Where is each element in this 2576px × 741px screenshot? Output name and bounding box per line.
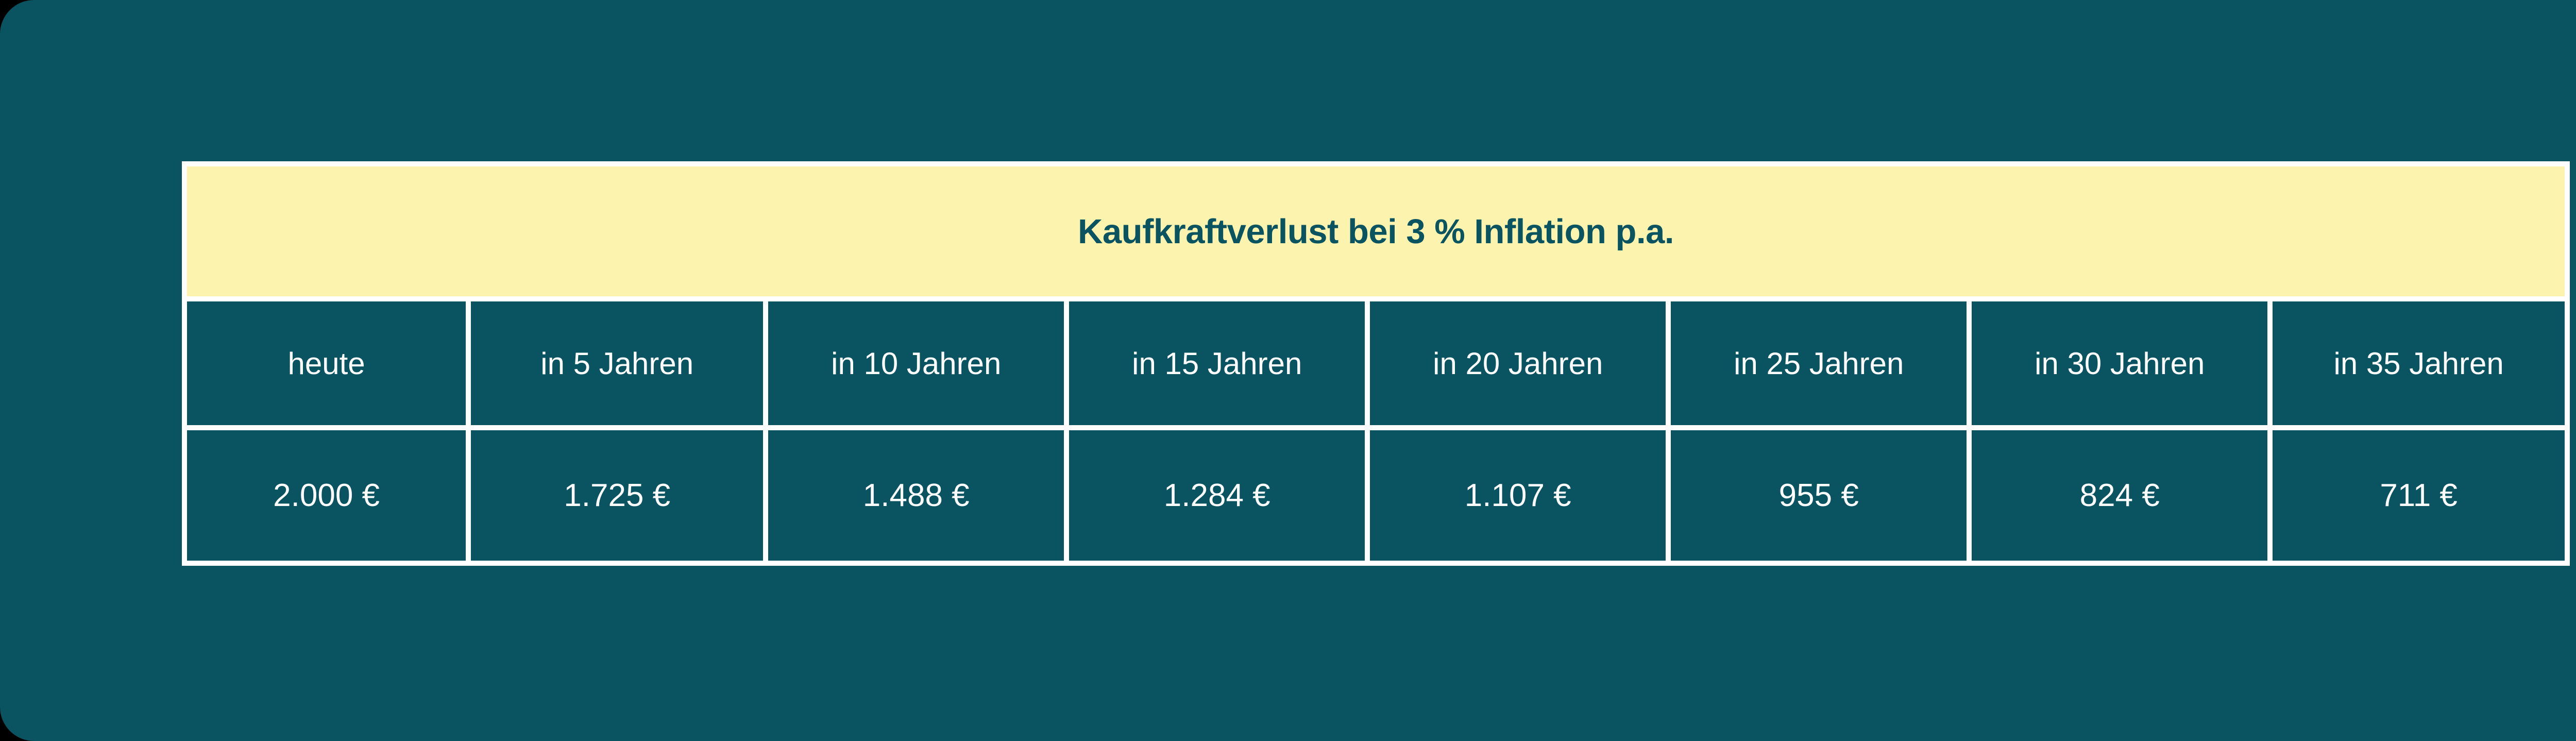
- column-header-in-30-jahren: in 30 Jahren: [1969, 301, 2270, 430]
- column-header-in-10-jahren: in 10 Jahren: [766, 301, 1066, 430]
- value-cell-in-30-jahren: 824 €: [1969, 430, 2270, 566]
- inflation-table: Kaufkraftverlust bei 3 % Inflation p.a. …: [182, 161, 2570, 566]
- value-cell-in-15-jahren: 1.284 €: [1066, 430, 1367, 566]
- value-cell-in-35-jahren: 711 €: [2270, 430, 2570, 566]
- value-cell-heute: 2.000 €: [182, 430, 468, 566]
- inflation-table-container: Kaufkraftverlust bei 3 % Inflation p.a. …: [182, 161, 2570, 566]
- table-header-row: heute in 5 Jahren in 10 Jahren in 15 Jah…: [182, 301, 2570, 430]
- table-row: 2.000 € 1.725 € 1.488 € 1.284 € 1.107 € …: [182, 430, 2570, 566]
- column-header-in-15-jahren: in 15 Jahren: [1066, 301, 1367, 430]
- value-cell-in-5-jahren: 1.725 €: [468, 430, 766, 566]
- background-panel: Kaufkraftverlust bei 3 % Inflation p.a. …: [0, 0, 2576, 741]
- column-header-heute: heute: [182, 301, 468, 430]
- table-title: Kaufkraftverlust bei 3 % Inflation p.a.: [182, 161, 2570, 301]
- column-header-in-35-jahren: in 35 Jahren: [2270, 301, 2570, 430]
- value-cell-in-10-jahren: 1.488 €: [766, 430, 1066, 566]
- column-header-in-5-jahren: in 5 Jahren: [468, 301, 766, 430]
- table-title-row: Kaufkraftverlust bei 3 % Inflation p.a.: [182, 161, 2570, 301]
- value-cell-in-25-jahren: 955 €: [1668, 430, 1969, 566]
- value-cell-in-20-jahren: 1.107 €: [1367, 430, 1668, 566]
- column-header-in-20-jahren: in 20 Jahren: [1367, 301, 1668, 430]
- column-header-in-25-jahren: in 25 Jahren: [1668, 301, 1969, 430]
